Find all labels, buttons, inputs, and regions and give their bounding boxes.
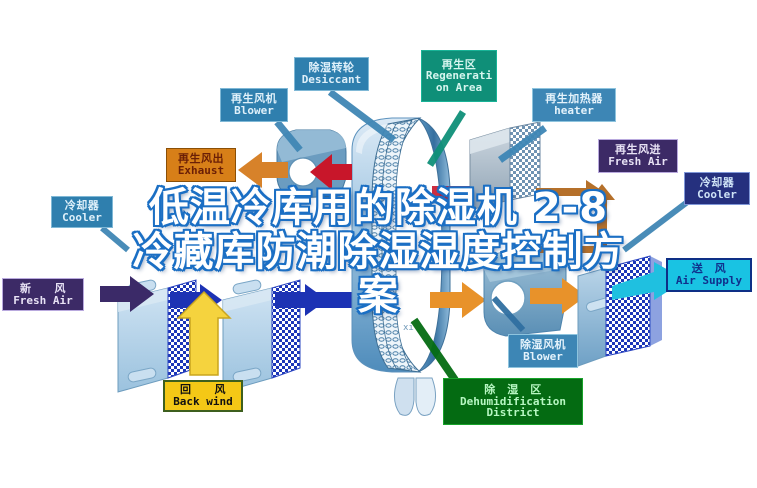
- label-regeneration-heater[interactable]: 再生加热器 heater: [532, 88, 616, 122]
- label-dehum-district-en2: District: [487, 407, 540, 419]
- label-regeneration-area-en2: on Area: [436, 82, 482, 94]
- page-title-line-1: 低温冷库用的除湿机 2-8: [0, 186, 757, 230]
- svg-text:xi: xi: [403, 323, 414, 333]
- page-title-line-3: 案: [0, 274, 757, 318]
- label-regeneration-blower[interactable]: 再生风机 Blower: [220, 88, 288, 122]
- label-regen-fresh-air-en: Fresh Air: [608, 156, 668, 168]
- label-dehumidification-blower[interactable]: 除湿风机 Blower: [508, 334, 578, 368]
- label-regeneration-area[interactable]: 再生区 Regenerati on Area: [421, 50, 497, 102]
- label-dehum-blower-en: Blower: [523, 351, 563, 363]
- label-regeneration-fresh-air-in[interactable]: 再生风进 Fresh Air: [598, 139, 678, 173]
- label-exhaust-en: Exhaust: [178, 165, 224, 177]
- label-desiccant-wheel-en: Desiccant: [302, 74, 362, 86]
- label-desiccant-wheel[interactable]: 除湿转轮 Desiccant: [294, 57, 369, 91]
- label-back-wind-en: Back wind: [173, 396, 233, 408]
- label-regeneration-blower-en: Blower: [234, 105, 274, 117]
- label-exhaust[interactable]: 再生风出 Exhaust: [166, 148, 236, 182]
- page-title-line-2: 冷藏库防潮除湿湿度控制方: [0, 230, 757, 274]
- label-regeneration-heater-en: heater: [554, 105, 594, 117]
- diagram-canvas: xi: [0, 0, 757, 488]
- label-dehum-district-cn: 除 湿 区: [484, 384, 542, 396]
- label-dehumidification-district[interactable]: 除 湿 区 Dehumidification District: [443, 378, 583, 425]
- label-back-wind[interactable]: 回 风 Back wind: [163, 380, 243, 412]
- page-title: 低温冷库用的除湿机 2-8 冷藏库防潮除湿湿度控制方 案: [0, 186, 757, 318]
